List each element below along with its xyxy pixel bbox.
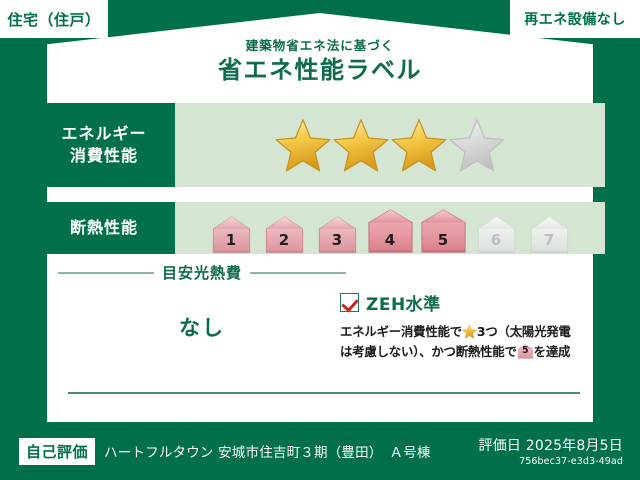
evaluation-info: 評価日 2025年8月5日 756bec37-e3d3-49ad	[479, 435, 624, 467]
evaluation-id: 756bec37-e3d3-49ad	[479, 456, 624, 467]
star-filled-icon	[333, 118, 389, 172]
body-separator-rule	[68, 392, 580, 394]
star-rating	[275, 118, 505, 172]
energy-label-root: 住宅（住戸） 再エネ設備なし 建築物省エネ法に基づく 省エネ性能ラベル エネルギ…	[0, 0, 640, 480]
insulation-level-6: 6	[471, 216, 522, 254]
energy-performance-label: エネルギー 消費性能	[33, 103, 175, 187]
insulation-performance-row: 断熱性能 1234567	[33, 202, 605, 254]
insulation-performance-value: 1234567	[175, 202, 605, 254]
zeh-desc-part1: エネルギー消費性能で	[340, 324, 462, 339]
utility-cost-title: 目安光熱費	[162, 262, 242, 283]
insulation-level-2: 2	[259, 216, 310, 254]
insulation-level-7: 7	[524, 216, 575, 254]
footer-bar: 自己評価 ハートフルタウン 安城市住吉町３期（豊田） Ａ号棟 評価日 2025年…	[0, 422, 640, 480]
star-filled-icon	[391, 118, 447, 172]
insulation-level-scale: 1234567	[206, 209, 575, 254]
utility-cost-divider: 目安光熱費	[58, 262, 346, 283]
divider-rule-left	[58, 272, 154, 274]
zeh-desc-part2: 3つ（太陽光発電	[477, 324, 571, 339]
zeh-checkbox-checked-icon	[340, 293, 359, 312]
star-empty-icon	[449, 118, 505, 172]
zeh-heading: ZEH水準	[340, 290, 590, 315]
zeh-desc-part4: を達成	[534, 344, 571, 359]
insulation-level-badge-icon: 5	[517, 344, 534, 359]
insulation-level-5: 5	[418, 209, 469, 254]
renewable-energy-tag: 再エネ設備なし	[510, 0, 640, 38]
energy-performance-value	[175, 103, 605, 187]
zeh-title: ZEH水準	[366, 290, 441, 315]
building-type-tag: 住宅（住戸）	[0, 0, 108, 38]
zeh-description: エネルギー消費性能で3つ（太陽光発電は考慮しない）、かつ断熱性能で5を達成	[340, 322, 590, 361]
self-evaluation-badge: 自己評価	[19, 438, 95, 465]
energy-label-line1: エネルギー	[61, 123, 146, 145]
star-filled-icon	[275, 118, 331, 172]
evaluation-date: 評価日 2025年8月5日	[479, 435, 624, 455]
inline-badge-number: 5	[517, 344, 534, 359]
zeh-desc-part3: は考慮しない）、かつ断熱性能で	[340, 344, 517, 359]
insulation-level-1: 1	[206, 216, 257, 254]
energy-performance-row: エネルギー 消費性能	[33, 103, 605, 187]
insulation-level-3: 3	[312, 216, 363, 254]
energy-label-line2: 消費性能	[70, 145, 138, 167]
divider-rule-right	[250, 272, 346, 274]
utility-cost-value: なし	[58, 312, 346, 342]
zeh-standard-panel: ZEH水準 エネルギー消費性能で3つ（太陽光発電は考慮しない）、かつ断熱性能で5…	[340, 290, 590, 361]
insulation-level-4: 4	[365, 209, 416, 254]
insulation-label-line1: 断熱性能	[70, 217, 138, 239]
property-name: ハートフルタウン 安城市住吉町３期（豊田） Ａ号棟	[104, 441, 431, 461]
star-icon	[462, 324, 477, 339]
insulation-performance-label: 断熱性能	[33, 202, 175, 254]
